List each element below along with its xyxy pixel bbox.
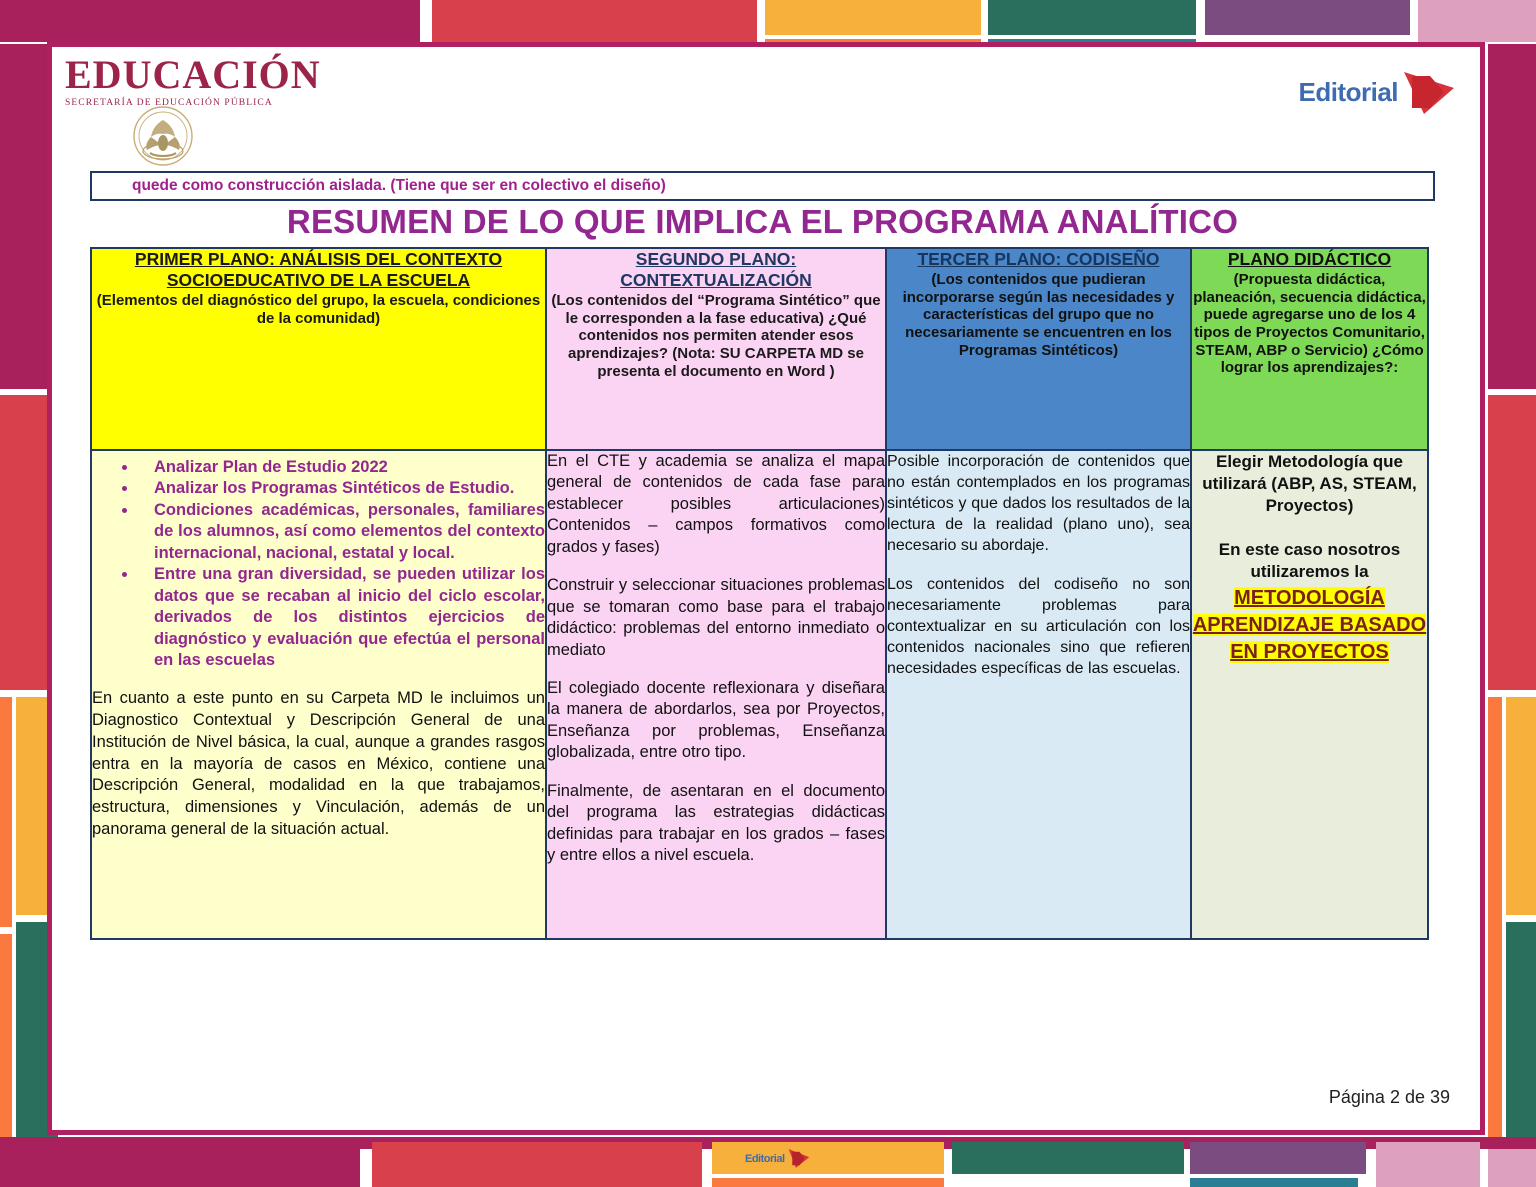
deco-left-orange2 [0,697,12,927]
paragraph: Posible incorporación de contenidos que … [887,451,1190,557]
footer-editorial-md-logo: Editorial [745,1148,812,1169]
header-sub-tercer-plano: (Los contenidos que pudieran incorporars… [887,271,1190,359]
deco-bottom-teal2 [1190,1178,1358,1187]
header-cell-tercer-plano: TERCER PLANO: CODISEÑO (Los contenidos q… [886,248,1191,450]
deco-right-orange [1506,697,1536,915]
list-item: Entre una gran diversidad, se pueden uti… [138,564,545,671]
header-title-plano-didactico: PLANO DIDÁCTICO [1192,249,1427,270]
body-cell-tercer-plano: Posible incorporación de contenidos que … [886,450,1191,939]
deco-bottom-pink [1376,1142,1480,1187]
sep-wordmark: EDUCACIÓN [65,55,485,95]
paragraph: Construir y seleccionar situaciones prob… [547,575,885,661]
page-header: EDUCACIÓN SECRETARÍA DE EDUCACIÓN PÚBLIC… [52,47,1480,172]
deco-top-orange [765,0,981,35]
list-item: Condiciones académicas, personales, fami… [138,500,545,564]
deco-top-purple [1205,0,1410,35]
header-sub-primer-plano: (Elementos del diagnóstico del grupo, la… [92,292,545,327]
header-cell-plano-didactico: PLANO DIDÁCTICO (Propuesta didáctica, pl… [1191,248,1428,450]
deco-right-teal [1506,922,1536,1144]
footer-editorial-text: Editorial [745,1153,785,1165]
header-cell-primer-plano: PRIMER PLANO: ANÁLISIS DEL CONTEXTO SOCI… [91,248,546,450]
planos-table: PRIMER PLANO: ANÁLISIS DEL CONTEXTO SOCI… [90,247,1429,940]
header-title-primer-plano: PRIMER PLANO: ANÁLISIS DEL CONTEXTO SOCI… [92,249,545,291]
document-page: EDUCACIÓN SECRETARÍA DE EDUCACIÓN PÚBLIC… [47,42,1485,1135]
plano-didactico-mid: En este caso nosotros utilizaremos la [1192,539,1427,583]
paragraph: En el CTE y academia se analiza el mapa … [547,451,885,558]
header-title-tercer-plano: TERCER PLANO: CODISEÑO [887,249,1190,270]
paragraph: Finalmente, de asentaran en el documento… [547,781,885,867]
editorial-text: Editorial [1298,77,1398,108]
page-title: RESUMEN DE LO QUE IMPLICA EL PROGRAMA AN… [90,203,1435,241]
page-number: Página 2 de 39 [1329,1087,1450,1108]
paragraph: Los contenidos del codiseño no son neces… [887,574,1190,680]
deco-bottom-red [372,1142,702,1187]
primer-plano-paragraph: En cuanto a este punto en su Carpeta MD … [92,688,545,840]
body-cell-primer-plano: Analizar Plan de Estudio 2022 Analizar l… [91,450,546,939]
plano-didactico-highlight-wrap: METODOLOGÍA APRENDIZAJE BASADO EN PROYEC… [1192,585,1427,665]
footer-md-mark-icon [786,1148,812,1169]
top-note-text: quede como construcción aislada. (Tiene … [132,177,666,195]
table-header-row: PRIMER PLANO: ANÁLISIS DEL CONTEXTO SOCI… [91,248,1428,450]
plano-didactico-lead: Elegir Metodología que utilizará (ABP, A… [1192,451,1427,517]
deco-bottom-orange2 [712,1178,944,1187]
primer-plano-bullet-list: Analizar Plan de Estudio 2022 Analizar l… [92,457,545,671]
body-cell-segundo-plano: En el CTE y academia se analiza el mapa … [546,450,886,939]
deco-bottom-purple [1190,1142,1366,1174]
editorial-md-logo: Editorial [1298,69,1458,115]
plano-didactico-highlight: METODOLOGÍA APRENDIZAJE BASADO EN PROYEC… [1193,587,1426,663]
deco-bottom-magenta [0,1142,360,1187]
deco-bottom-teal [952,1142,1184,1174]
header-title-segundo-plano: SEGUNDO PLANO: CONTEXTUALIZACIÓN [547,249,885,291]
list-item: Analizar los Programas Sintéticos de Est… [138,478,545,499]
header-cell-segundo-plano: SEGUNDO PLANO: CONTEXTUALIZACIÓN (Los co… [546,248,886,450]
list-item: Analizar Plan de Estudio 2022 [138,457,545,478]
sep-logo: EDUCACIÓN SECRETARÍA DE EDUCACIÓN PÚBLIC… [65,55,485,108]
deco-right-red [1488,395,1536,690]
header-sub-segundo-plano: (Los contenidos del “Programa Sintético”… [547,292,885,380]
deco-top-red [432,0,757,42]
deco-left-orange2b [0,934,12,1144]
deco-right-orange2 [1488,697,1502,1137]
deco-top-teal [988,0,1196,35]
mexican-coat-of-arms-icon [127,102,199,174]
deco-right-magenta [1488,44,1536,389]
top-note-box: quede como construcción aislada. (Tiene … [90,171,1435,201]
deco-top-magenta [0,0,420,42]
md-mark-icon [1400,69,1458,115]
deco-top-pink [1418,0,1536,42]
table-body-row: Analizar Plan de Estudio 2022 Analizar l… [91,450,1428,939]
paragraph: El colegiado docente reflexionara y dise… [547,678,885,764]
header-sub-plano-didactico: (Propuesta didáctica, planeación, secuen… [1192,271,1427,377]
body-cell-plano-didactico: Elegir Metodología que utilizará (ABP, A… [1191,450,1428,939]
